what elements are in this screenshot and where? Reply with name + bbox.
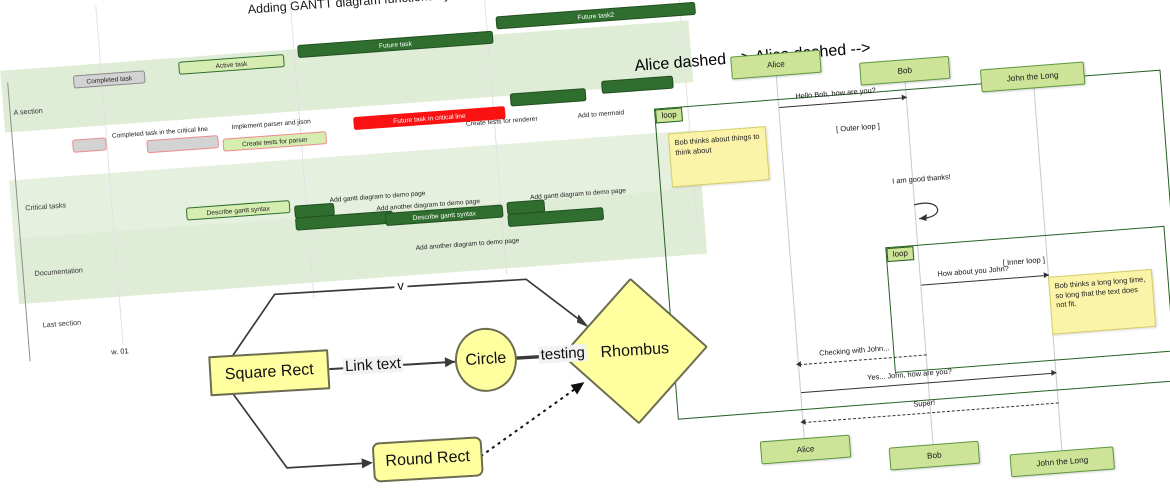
message-arrow-hello-bob xyxy=(902,94,907,100)
flow-edge-label-link-text: Link text xyxy=(343,355,404,376)
self-loop-path xyxy=(895,184,958,228)
gantt-section-label-3: Last section xyxy=(42,318,81,330)
actor-top-bob[interactable]: Bob xyxy=(859,56,950,86)
gantt-bar-create-tests-parser[interactable]: Create tests for parser xyxy=(222,131,327,152)
flow-node-rhombus-label: Rhombus xyxy=(600,340,669,362)
actor-bottom-bob[interactable]: Bob xyxy=(889,441,980,471)
diagram-collage: Adding GANTT diagram functionality to me… xyxy=(0,0,1170,497)
message-arrow-checking-with-john xyxy=(796,361,801,367)
gantt-bar-implement-parser[interactable] xyxy=(146,135,219,153)
actor-top-alice[interactable]: Alice xyxy=(730,50,821,80)
gantt-bar-label-add-to-mermaid: Add to mermaid xyxy=(577,109,624,119)
outer-loop-keyword: loop xyxy=(655,107,683,123)
inner-loop-keyword: loop xyxy=(886,246,914,262)
flow-edge-label-v: v xyxy=(394,277,407,293)
note-bob-thinks-long: Bob thinks a long long time, so long tha… xyxy=(1048,269,1156,335)
flow-edge-label-testing: testing xyxy=(538,344,587,364)
gantt-title: Adding GANTT diagram functionality to me… xyxy=(222,0,542,18)
message-arrow-yes-john xyxy=(1051,370,1056,376)
actor-bottom-john[interactable]: John the Long xyxy=(1010,446,1115,477)
gantt-bar-completed-critical[interactable] xyxy=(72,137,107,152)
message-arrow-super xyxy=(800,419,805,425)
flow-node-square-rect[interactable]: Square Rect xyxy=(208,349,330,396)
gantt-axis-tick-label: w. 01 xyxy=(111,346,129,356)
actor-bottom-alice[interactable]: Alice xyxy=(760,435,851,465)
note-bob-thinks-about: Bob thinks about things to think about xyxy=(668,126,770,187)
message-arrow-how-about-john xyxy=(1044,272,1049,278)
flowchart: Square Rect Circle Rhombus Round Rect Li… xyxy=(178,252,770,497)
message-label-super: Super! xyxy=(913,398,935,409)
flow-node-round-rect[interactable]: Round Rect xyxy=(372,436,484,482)
